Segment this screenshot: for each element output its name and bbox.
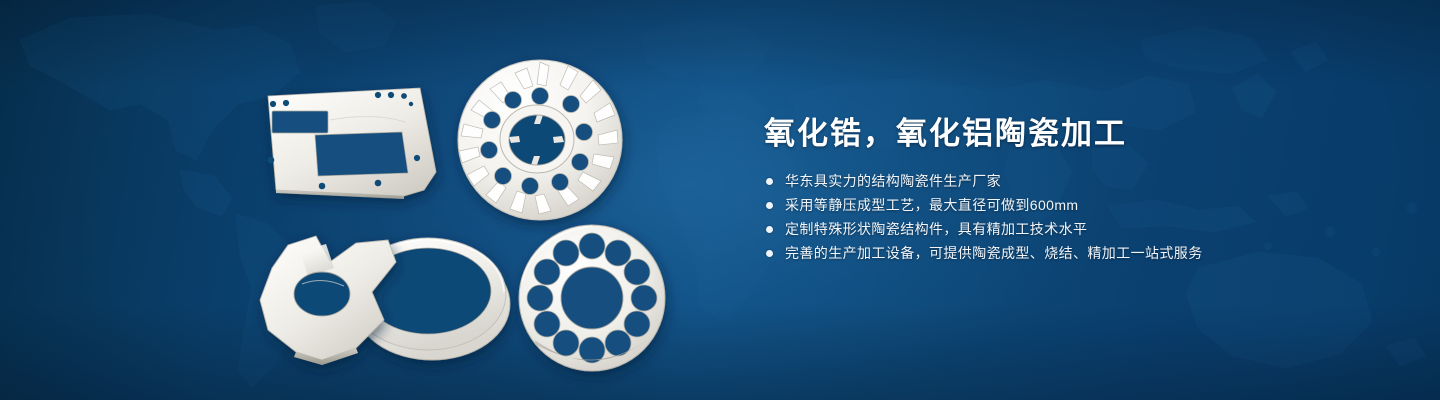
ceramic-machined-plate <box>268 88 436 199</box>
list-item: 采用等静压成型工艺，最大直径可做到600mm <box>766 195 1406 216</box>
ceramic-impeller <box>458 60 622 220</box>
product-image-group <box>0 0 720 400</box>
banner-text-column: 氧化锆，氧化铝陶瓷加工 华东具实力的结构陶瓷件生产厂家 采用等静压成型工艺，最大… <box>764 0 1424 400</box>
bullet-dot-icon <box>766 202 773 209</box>
feature-list: 华东具实力的结构陶瓷件生产厂家 采用等静压成型工艺，最大直径可做到600mm 定… <box>766 171 1406 267</box>
ceramic-cross-plate <box>260 236 396 365</box>
list-item: 完善的生产加工设备，可提供陶瓷成型、烧结、精加工一站式服务 <box>766 243 1406 264</box>
list-item: 华东具实力的结构陶瓷件生产厂家 <box>766 171 1406 192</box>
hero-banner: 氧化锆，氧化铝陶瓷加工 华东具实力的结构陶瓷件生产厂家 采用等静压成型工艺，最大… <box>0 0 1440 400</box>
list-item: 定制特殊形状陶瓷结构件，具有精加工技术水平 <box>766 219 1406 240</box>
feature-text: 定制特殊形状陶瓷结构件，具有精加工技术水平 <box>785 219 1087 240</box>
bullet-dot-icon <box>766 226 773 233</box>
bullet-dot-icon <box>766 178 773 185</box>
feature-text: 华东具实力的结构陶瓷件生产厂家 <box>785 171 1001 192</box>
bullet-dot-icon <box>766 250 773 257</box>
feature-text: 采用等静压成型工艺，最大直径可做到600mm <box>785 195 1078 216</box>
feature-text: 完善的生产加工设备，可提供陶瓷成型、烧结、精加工一站式服务 <box>785 243 1203 264</box>
banner-title: 氧化锆，氧化铝陶瓷加工 <box>764 114 1127 154</box>
ceramic-perforated-disc <box>519 225 665 371</box>
